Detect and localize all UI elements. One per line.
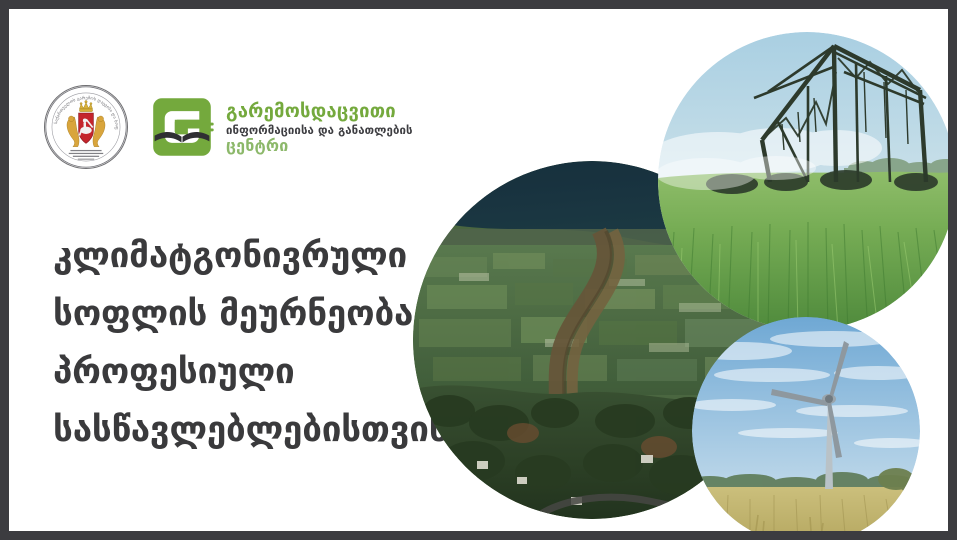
slide-frame: საქართველოს გარემოს დაცვისა და სოფლის მე… (0, 0, 957, 540)
green-g-open-book-logo-icon (146, 91, 218, 163)
title-line-4: სასწავლებლებისთვის (53, 401, 483, 459)
georgian-coat-of-arms-seal-icon: საქართველოს გარემოს დაცვისა და სოფლის მე… (44, 85, 128, 169)
slide-canvas: საქართველოს გარემოს დაცვისა და სოფლის მე… (9, 9, 948, 531)
logo-wordmark: გარემოსდაცვითი ინფორმაციისა და განათლები… (226, 100, 413, 155)
irrigation-pivot-photo (658, 32, 948, 330)
logo-lockup: საქართველოს გარემოს დაცვისა და სოფლის მე… (44, 85, 413, 169)
logo-line-3: ცენტრი (226, 137, 413, 154)
page-title: კლიმატგონივრული სოფლის მეურნეობა პროფესი… (53, 227, 483, 459)
eiec-logo: გარემოსდაცვითი ინფორმაციისა და განათლები… (146, 91, 413, 163)
title-line-2: სოფლის მეურნეობა (53, 285, 483, 343)
logo-line-2: ინფორმაციისა და განათლების (226, 124, 413, 136)
title-line-1: კლიმატგონივრული (53, 227, 483, 285)
title-line-3: პროფესიული (53, 343, 483, 401)
wind-turbine-photo (692, 317, 920, 531)
logo-line-1: გარემოსდაცვითი (226, 102, 413, 122)
